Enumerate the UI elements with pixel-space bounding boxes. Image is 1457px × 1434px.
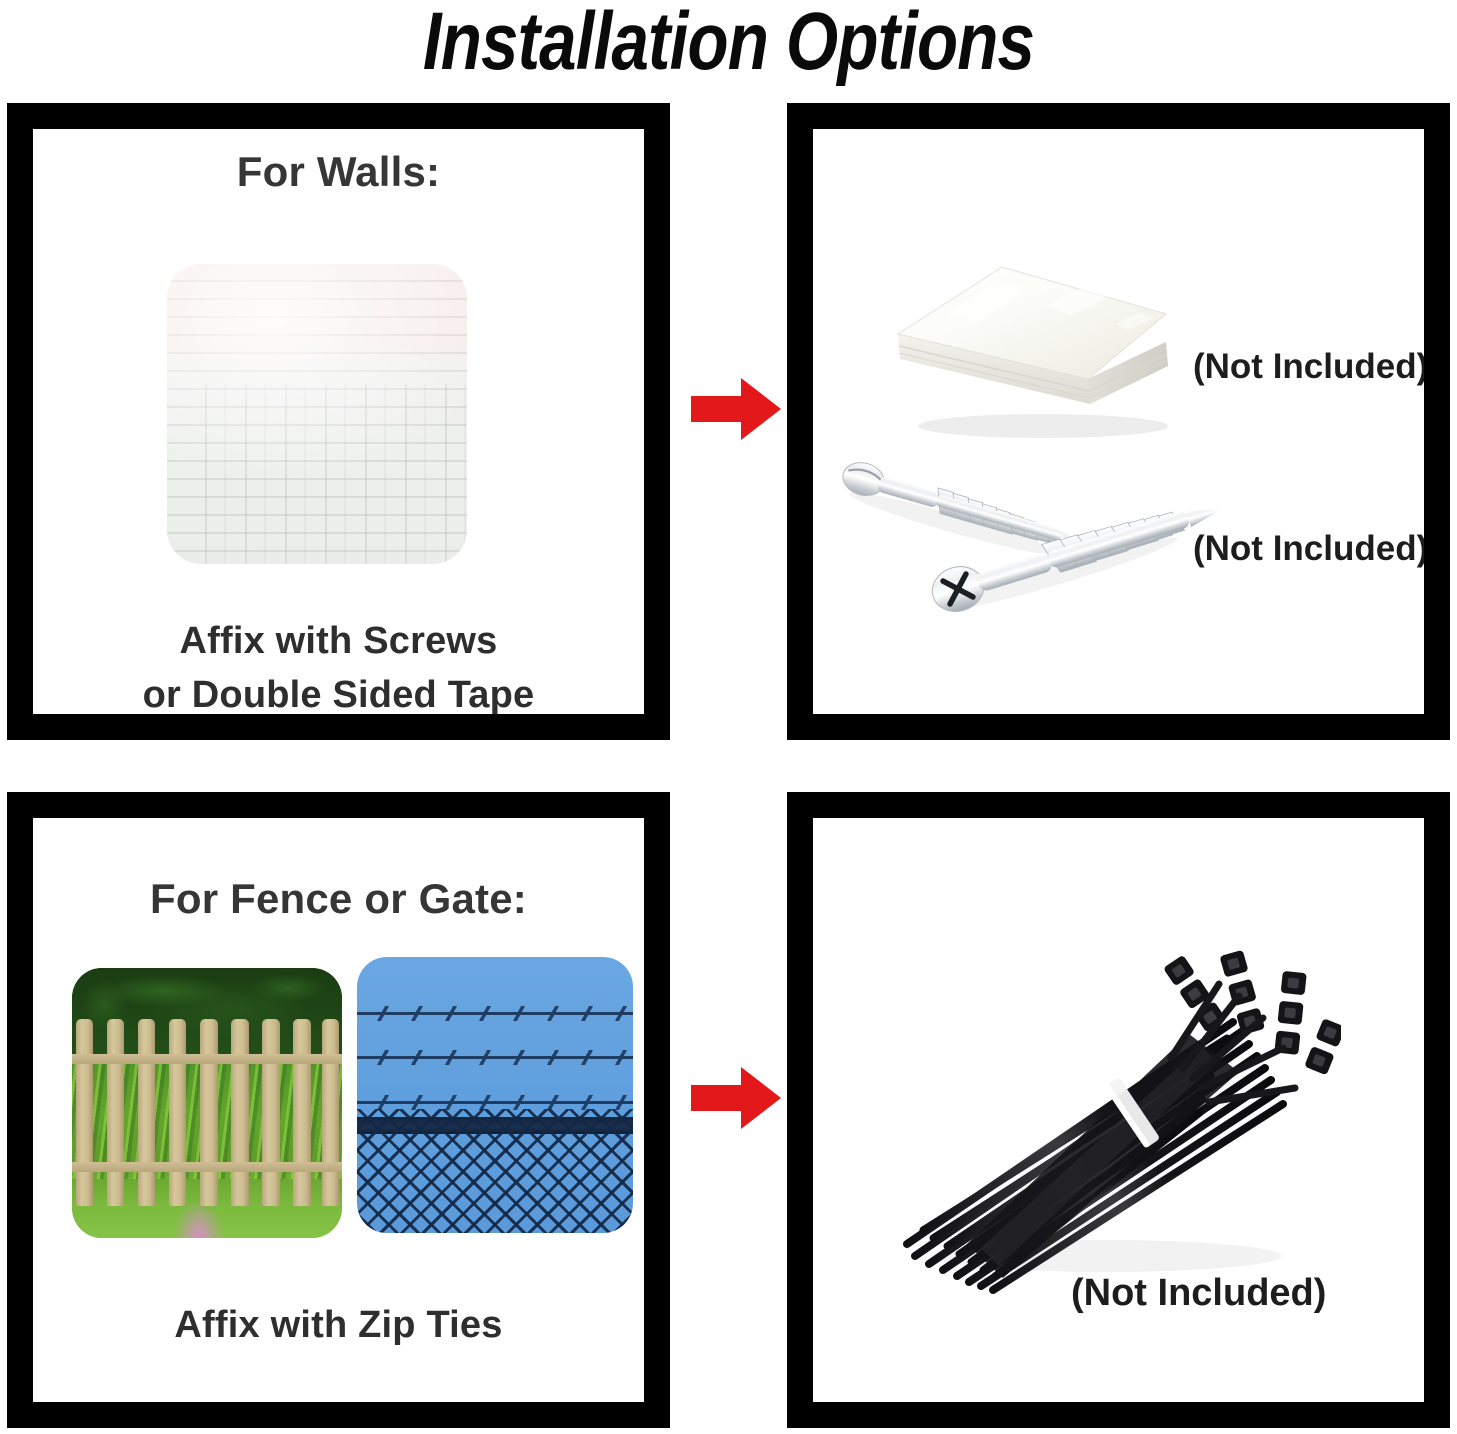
for-fence-heading: For Fence or Gate: [33,875,644,923]
panel-wall-hardware-content: (Not Included) [813,129,1424,714]
panel-for-walls-content: For Walls: Affix with Screws or Double S… [33,129,644,714]
picket-boards [72,968,342,1238]
double-sided-tape-stack [878,254,1188,439]
walls-caption-line2: or Double Sided Tape [33,668,644,714]
screws-not-included-note: (Not Included) [1193,529,1424,569]
panel-wall-hardware: (Not Included) [787,103,1450,740]
walls-caption-line1: Affix with Screws [33,614,644,668]
zipties-not-included-note: (Not Included) [1071,1273,1326,1313]
panel-zip-ties-content: (Not Included) [813,818,1424,1402]
red-right-arrow-top [691,376,783,442]
for-walls-heading: For Walls: [33,148,644,196]
white-brick-wall-photo [167,264,467,564]
panel-for-fence-or-gate: For Fence or Gate: [7,792,670,1428]
panel-for-fence-content: For Fence or Gate: [33,818,644,1402]
page-title: Installation Options [131,0,1326,88]
panel-for-walls: For Walls: Affix with Screws or Double S… [7,103,670,740]
fence-caption: Affix with Zip Ties [33,1298,644,1352]
wooden-picket-fence-photo [72,968,342,1238]
tape-not-included-note: (Not Included) [1193,347,1424,387]
red-right-arrow-bottom [691,1065,783,1131]
panel-zip-ties: (Not Included) [787,792,1450,1428]
screw-lower-phillips [913,509,1233,644]
chain-link-barbed-wire-fence-photo [357,957,633,1233]
black-zip-ties-bundle [871,926,1341,1316]
brick-sheen [167,264,467,564]
